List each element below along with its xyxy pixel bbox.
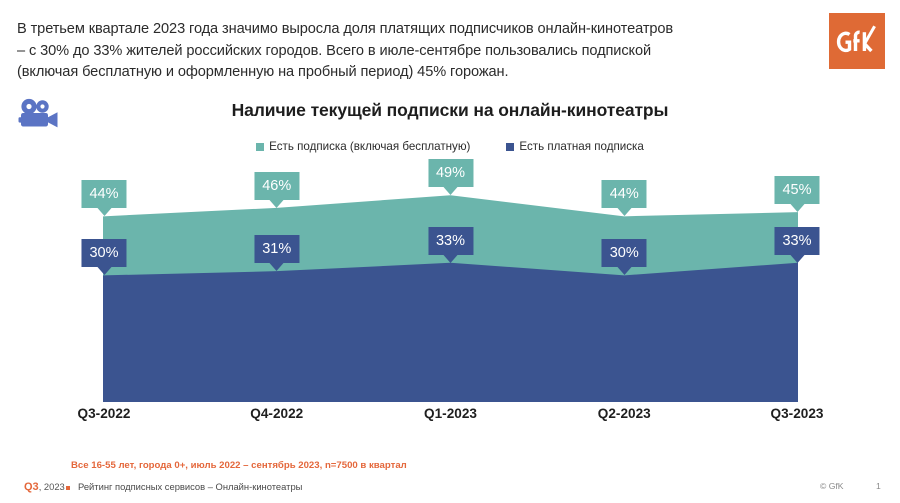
data-label-paid-0: 30% <box>81 239 126 267</box>
header-line-1: В третьем квартале 2023 года значимо выр… <box>17 19 807 41</box>
data-label-value: 30% <box>89 245 118 261</box>
data-label-value: 30% <box>610 245 639 261</box>
legend-item-paid[interactable]: Есть платная подписка <box>506 140 643 153</box>
callout-tail <box>97 267 111 275</box>
chart-title: Наличие текущей подписки на онлайн-кинот… <box>0 100 900 121</box>
legend-swatch-blue <box>506 143 514 151</box>
callout-tail <box>617 267 631 275</box>
callout-tail <box>790 255 804 263</box>
data-label-paid-2: 33% <box>428 227 473 255</box>
legend-swatch-teal <box>256 143 264 151</box>
data-label-value: 33% <box>436 233 465 249</box>
area-series-paid <box>103 263 798 402</box>
data-label-paid-3: 30% <box>602 239 647 267</box>
footer-quarter: Q3, 2023 <box>24 481 65 493</box>
x-tick-q4-2022: Q4-2022 <box>250 406 303 421</box>
chart-container: Наличие текущей подписки на онлайн-кинот… <box>0 84 900 440</box>
callout-tail <box>97 208 111 216</box>
header-line-3: (включая бесплатную и оформленную на про… <box>17 62 807 84</box>
footer-quarter-rest: , 2023 <box>39 481 65 492</box>
legend-label-paid: Есть платная подписка <box>519 140 643 153</box>
data-label-total-0: 44% <box>81 180 126 208</box>
footer-source-title: Рейтинг подписных сервисов – Онлайн-кино… <box>78 481 302 492</box>
callout-tail <box>270 200 284 208</box>
legend-label-total: Есть подписка (включая бесплатную) <box>269 140 470 153</box>
footer-quarter-bold: Q3 <box>24 481 39 493</box>
data-label-value: 44% <box>89 186 118 202</box>
data-label-value: 49% <box>436 165 465 181</box>
header-paragraph: В третьем квартале 2023 года значимо выр… <box>17 19 807 84</box>
callout-tail <box>790 204 804 212</box>
data-label-total-4: 45% <box>774 176 819 204</box>
slide-header: В третьем квартале 2023 года значимо выр… <box>0 0 900 84</box>
data-label-value: 45% <box>782 182 811 198</box>
footer-copyright: © GfK <box>820 481 844 491</box>
data-label-paid-1: 31% <box>254 235 299 263</box>
callout-tail <box>270 263 284 271</box>
gfk-logo <box>829 13 885 69</box>
footer-sample-note: Все 16-55 лет, города 0+, июль 2022 – се… <box>71 460 407 471</box>
data-label-total-3: 44% <box>602 180 647 208</box>
footer-page-number: 1 <box>876 481 881 491</box>
data-label-total-2: 49% <box>428 159 473 187</box>
x-axis-labels: Q3-2022Q4-2022Q1-2023Q2-2023Q3-2023 <box>0 406 900 432</box>
footer-bullet-icon <box>66 486 70 490</box>
header-line-2: – с 30% до 33% жителей российских городо… <box>17 41 807 63</box>
chart-legend: Есть подписка (включая бесплатную) Есть … <box>0 140 900 153</box>
slide-footer: Все 16-55 лет, города 0+, июль 2022 – се… <box>0 440 900 503</box>
data-label-value: 46% <box>262 178 291 194</box>
data-label-paid-4: 33% <box>774 227 819 255</box>
data-label-value: 33% <box>782 233 811 249</box>
callout-tail <box>444 187 458 195</box>
x-tick-q1-2023: Q1-2023 <box>424 406 477 421</box>
callout-tail <box>617 208 631 216</box>
callout-tail <box>444 255 458 263</box>
data-label-value: 31% <box>262 241 291 257</box>
x-tick-q3-2023: Q3-2023 <box>771 406 824 421</box>
x-tick-q3-2022: Q3-2022 <box>78 406 131 421</box>
data-label-total-1: 46% <box>254 172 299 200</box>
x-tick-q2-2023: Q2-2023 <box>598 406 651 421</box>
data-label-value: 44% <box>610 186 639 202</box>
legend-item-total[interactable]: Есть подписка (включая бесплатную) <box>256 140 470 153</box>
area-chart-plot: 44%30%46%31%49%33%44%30%45%33% <box>0 168 900 402</box>
